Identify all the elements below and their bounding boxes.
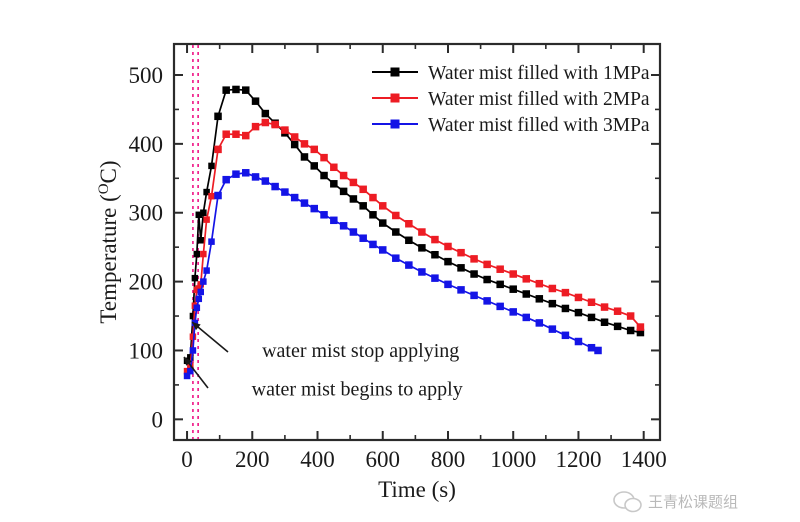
legend-label-3: Water mist filled with 3MPa xyxy=(428,115,650,136)
series-marker-3 xyxy=(594,347,602,355)
series-marker-3 xyxy=(232,170,240,178)
series-marker-3 xyxy=(340,222,348,230)
series-marker-2 xyxy=(637,323,645,331)
series-marker-2 xyxy=(311,146,319,154)
series-marker-2 xyxy=(350,179,358,187)
series-marker-1 xyxy=(208,163,215,170)
series-marker-1 xyxy=(601,318,609,326)
series-marker-3 xyxy=(549,325,557,333)
series-marker-3 xyxy=(197,289,204,296)
y-tick-label: 300 xyxy=(129,201,164,226)
series-marker-3 xyxy=(444,281,452,289)
watermark-text: 王青松课题组 xyxy=(648,493,738,511)
series-marker-1 xyxy=(200,209,207,216)
series-marker-2 xyxy=(588,299,596,307)
series-marker-2 xyxy=(271,121,279,129)
series-marker-2 xyxy=(208,193,215,200)
series-marker-3 xyxy=(470,292,478,300)
series-marker-1 xyxy=(562,305,570,313)
x-tick-label: 0 xyxy=(181,447,193,472)
series-marker-1 xyxy=(214,113,222,121)
x-tick-label: 400 xyxy=(300,447,335,472)
series-marker-1 xyxy=(431,251,439,259)
legend-label-1: Water mist filled with 1MPa xyxy=(428,63,650,84)
series-marker-3 xyxy=(242,169,250,177)
series-marker-2 xyxy=(214,146,222,154)
series-marker-3 xyxy=(330,217,338,225)
x-tick-label: 800 xyxy=(431,447,466,472)
series-marker-1 xyxy=(197,237,204,244)
series-marker-3 xyxy=(214,192,222,200)
legend-marker-3 xyxy=(391,120,400,129)
series-marker-3 xyxy=(291,194,299,202)
y-tick-label: 100 xyxy=(129,338,164,363)
series-marker-3 xyxy=(575,338,583,346)
series-marker-3 xyxy=(418,268,426,276)
y-tick-label: 200 xyxy=(129,270,164,295)
series-marker-2 xyxy=(470,255,478,263)
series-marker-3 xyxy=(281,188,289,196)
series-marker-1 xyxy=(627,327,635,335)
series-marker-1 xyxy=(614,323,622,331)
series-marker-3 xyxy=(496,303,504,311)
water-mist-begins-annotation: water mist begins to apply xyxy=(252,378,463,400)
series-marker-3 xyxy=(190,347,197,354)
series-marker-1 xyxy=(369,211,377,219)
y-tick-label: 400 xyxy=(129,132,164,157)
series-marker-1 xyxy=(330,180,338,188)
x-tick-label: 600 xyxy=(366,447,401,472)
series-marker-1 xyxy=(536,295,544,303)
series-marker-1 xyxy=(311,162,319,170)
series-marker-3 xyxy=(359,234,367,242)
series-marker-3 xyxy=(509,308,516,316)
y-tick-label: 500 xyxy=(129,63,164,88)
series-marker-3 xyxy=(222,176,230,184)
series-marker-3 xyxy=(252,173,260,181)
legend-label-2: Water mist filled with 2MPa xyxy=(428,89,650,110)
series-marker-3 xyxy=(431,274,439,282)
series-marker-2 xyxy=(483,261,491,269)
series-marker-2 xyxy=(340,172,348,180)
series-marker-3 xyxy=(194,305,201,312)
series-marker-1 xyxy=(457,264,465,272)
series-marker-2 xyxy=(301,140,309,148)
series-marker-3 xyxy=(262,177,270,185)
series-marker-1 xyxy=(320,172,328,180)
legend-marker-2 xyxy=(391,94,400,103)
series-marker-2 xyxy=(203,216,210,223)
series-marker-1 xyxy=(340,188,348,196)
series-marker-3 xyxy=(562,332,570,340)
series-marker-2 xyxy=(281,126,289,134)
series-marker-1 xyxy=(392,228,400,236)
series-marker-2 xyxy=(320,154,328,162)
series-marker-1 xyxy=(222,86,230,94)
series-marker-2 xyxy=(549,285,557,293)
series-marker-1 xyxy=(418,244,426,252)
series-marker-3 xyxy=(392,254,400,261)
series-marker-2 xyxy=(232,130,240,138)
series-marker-2 xyxy=(252,123,260,131)
series-marker-1 xyxy=(252,97,260,105)
series-marker-1 xyxy=(192,275,199,282)
series-marker-2 xyxy=(523,275,531,283)
series-marker-2 xyxy=(379,202,387,210)
series-marker-3 xyxy=(379,246,387,254)
series-marker-1 xyxy=(509,285,516,293)
series-marker-2 xyxy=(359,186,367,194)
x-axis-title: Time (s) xyxy=(378,477,456,502)
series-marker-2 xyxy=(509,270,516,278)
series-marker-2 xyxy=(392,212,400,220)
series-marker-2 xyxy=(200,251,207,258)
series-marker-1 xyxy=(523,290,531,298)
series-marker-2 xyxy=(242,132,250,140)
series-marker-1 xyxy=(262,110,270,118)
series-marker-2 xyxy=(457,249,465,257)
series-marker-3 xyxy=(311,205,319,213)
y-tick-label: 0 xyxy=(152,407,164,432)
series-marker-2 xyxy=(431,236,439,244)
series-marker-3 xyxy=(536,319,544,327)
series-marker-1 xyxy=(575,309,583,317)
series-marker-1 xyxy=(549,300,557,308)
series-marker-3 xyxy=(196,296,203,303)
series-marker-3 xyxy=(405,261,413,269)
x-tick-label: 200 xyxy=(235,447,270,472)
series-marker-2 xyxy=(562,289,570,297)
series-marker-3 xyxy=(369,241,377,249)
series-marker-2 xyxy=(496,265,504,273)
series-marker-1 xyxy=(350,195,358,203)
series-marker-2 xyxy=(536,280,544,288)
series-marker-1 xyxy=(301,153,309,161)
series-marker-2 xyxy=(601,303,609,311)
series-marker-2 xyxy=(418,228,426,236)
series-marker-1 xyxy=(194,251,201,258)
watermark: 王青松课题组 xyxy=(614,492,738,512)
series-marker-3 xyxy=(271,183,279,191)
series-marker-2 xyxy=(575,294,583,302)
series-marker-1 xyxy=(444,258,452,266)
chart-figure: 0200400600800100012001400010020030040050… xyxy=(0,0,800,522)
series-marker-1 xyxy=(588,314,596,322)
series-marker-3 xyxy=(457,286,465,294)
series-marker-1 xyxy=(483,276,491,284)
series-marker-2 xyxy=(330,164,338,172)
series-marker-1 xyxy=(232,86,240,94)
series-marker-3 xyxy=(320,211,328,219)
x-tick-label: 1400 xyxy=(621,447,667,472)
series-marker-3 xyxy=(588,344,596,352)
series-marker-1 xyxy=(379,219,387,227)
series-marker-3 xyxy=(350,228,358,236)
legend-marker-1 xyxy=(391,68,400,77)
series-marker-3 xyxy=(301,199,309,207)
series-marker-1 xyxy=(470,270,478,278)
series-marker-2 xyxy=(405,220,413,228)
series-marker-1 xyxy=(496,281,504,289)
x-tick-label: 1000 xyxy=(490,447,536,472)
series-marker-2 xyxy=(627,312,635,320)
series-marker-3 xyxy=(523,314,531,322)
series-marker-2 xyxy=(369,194,377,202)
series-marker-3 xyxy=(200,278,207,285)
series-marker-2 xyxy=(444,243,452,251)
water-mist-stop-annotation: water mist stop applying xyxy=(262,340,459,362)
series-marker-3 xyxy=(483,297,491,305)
series-marker-2 xyxy=(291,133,299,141)
series-marker-3 xyxy=(203,267,210,274)
series-marker-1 xyxy=(359,202,367,210)
series-marker-2 xyxy=(262,119,270,127)
series-marker-1 xyxy=(291,141,299,149)
series-marker-2 xyxy=(614,307,622,315)
series-marker-1 xyxy=(405,237,413,245)
series-marker-1 xyxy=(242,86,250,94)
series-marker-2 xyxy=(222,130,230,138)
series-marker-3 xyxy=(208,238,215,245)
x-tick-label: 1200 xyxy=(555,447,601,472)
